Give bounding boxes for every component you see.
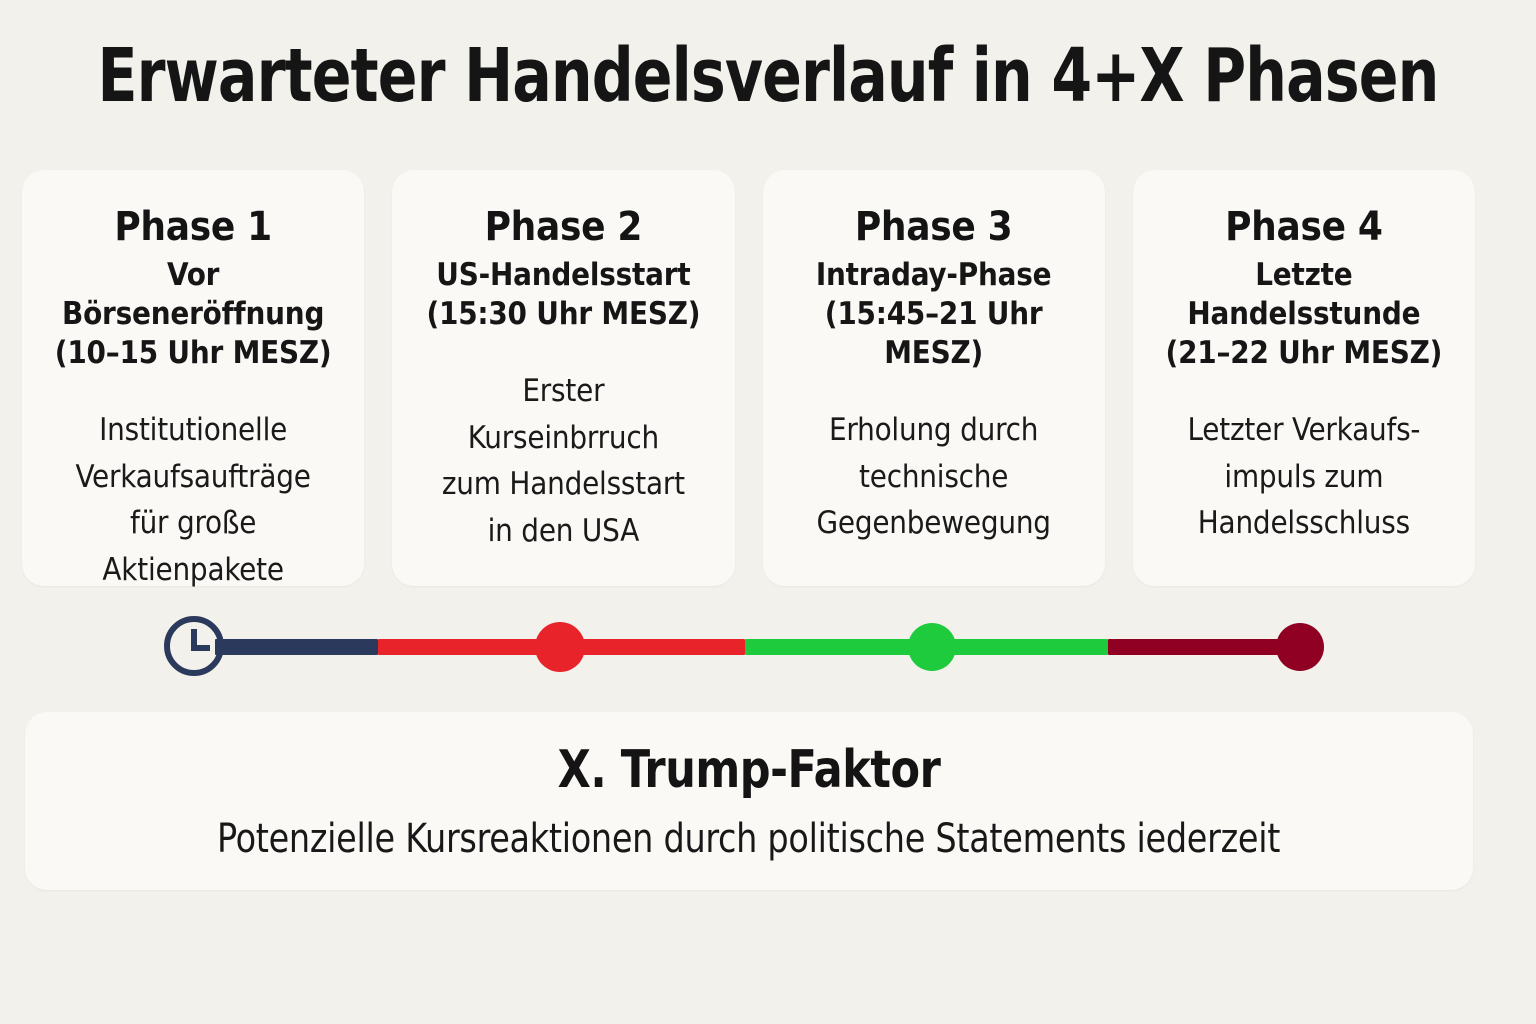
phase-card-description: Letzter Verkaufs- impuls zum Handelsschl…: [1187, 407, 1420, 547]
phase-card-desc-line1: Erholung durch: [816, 407, 1050, 454]
phase-card-title: Phase 1: [114, 206, 272, 249]
phase-timeline: [0, 600, 1536, 692]
phase-card-subtitle-line2: (15:45–21 Uhr MESZ): [777, 295, 1091, 373]
phase-card-subtitle: US-Handelsstart (15:30 Uhr MESZ): [426, 256, 700, 334]
phase-card-desc-line3: für große: [76, 500, 311, 547]
phase-card-description: Erholung durch technische Gegenbewegung: [816, 407, 1050, 547]
phase-card-subtitle-line2: (10–15 Uhr MESZ): [36, 334, 350, 373]
phase-card-title: Phase 3: [855, 206, 1013, 249]
phase-card-desc-line3: Handelsschluss: [1187, 500, 1420, 547]
phase-card-desc-line1: Letzter Verkaufs-: [1187, 407, 1420, 454]
marker-phase-3: [908, 623, 956, 671]
phase-card-title: Phase 2: [485, 206, 643, 249]
page-title: Erwarteter Handelsverlauf in 4+X Phasen: [92, 38, 1444, 116]
phase-card-subtitle-line1: Letzte Handelsstunde: [1147, 256, 1461, 334]
phase-cards-row: Phase 1 Vor Börseneröffnung (10–15 Uhr M…: [22, 170, 1475, 586]
phase-card-desc-line2: impuls zum: [1187, 454, 1420, 501]
phase-card-desc-line2: Verkaufsaufträge: [76, 454, 311, 501]
phase-card-desc-line1: Erster: [442, 368, 685, 415]
trump-factor-title: X. Trump-Faktor: [558, 740, 941, 800]
marker-phase-4: [1276, 623, 1324, 671]
phase-card-title: Phase 4: [1225, 206, 1383, 249]
clock-icon: [161, 613, 227, 679]
phase-card-desc-line3: zum Handelsstart: [442, 461, 685, 508]
trump-factor-card: X. Trump-Faktor Potenzielle Kursreaktion…: [25, 712, 1473, 890]
phase-card-subtitle: Vor Börseneröffnung (10–15 Uhr MESZ): [36, 256, 350, 373]
phase-card-subtitle-line2: (15:30 Uhr MESZ): [426, 295, 700, 334]
phase-card-description: Institutionelle Verkaufsaufträge für gro…: [76, 407, 311, 593]
phase-card-desc-line2: technische: [816, 454, 1050, 501]
phase-card-subtitle-line1: US-Handelsstart: [426, 256, 700, 295]
phase-card-subtitle: Intraday-Phase (15:45–21 Uhr MESZ): [777, 256, 1091, 373]
phase-card-subtitle-line1: Intraday-Phase: [777, 256, 1091, 295]
trump-factor-subtitle: Potenzielle Kursreaktionen durch politis…: [217, 816, 1280, 862]
phase-card-desc-line4: Aktienpakete: [76, 547, 311, 594]
phase-card-subtitle-line1: Vor Börseneröffnung: [36, 256, 350, 334]
phase-card-description: Erster Kurseinbrruch zum Handelsstart in…: [442, 368, 685, 554]
phase-card-1: Phase 1 Vor Börseneröffnung (10–15 Uhr M…: [22, 170, 364, 586]
phase-card-subtitle: Letzte Handelsstunde (21–22 Uhr MESZ): [1147, 256, 1461, 373]
phase-card-2: Phase 2 US-Handelsstart (15:30 Uhr MESZ)…: [392, 170, 734, 586]
phase-card-4: Phase 4 Letzte Handelsstunde (21–22 Uhr …: [1133, 170, 1475, 586]
phase-card-subtitle-line2: (21–22 Uhr MESZ): [1147, 334, 1461, 373]
phase-card-desc-line2: Kurseinbrruch: [442, 415, 685, 462]
phase-card-desc-line3: Gegenbewegung: [816, 500, 1050, 547]
marker-phase-2: [535, 622, 585, 672]
pre-market-segment: [215, 639, 378, 655]
phase-card-3: Phase 3 Intraday-Phase (15:45–21 Uhr MES…: [763, 170, 1105, 586]
phase-card-desc-line1: Institutionelle: [76, 407, 311, 454]
phase-card-desc-line4: in den USA: [442, 508, 685, 555]
